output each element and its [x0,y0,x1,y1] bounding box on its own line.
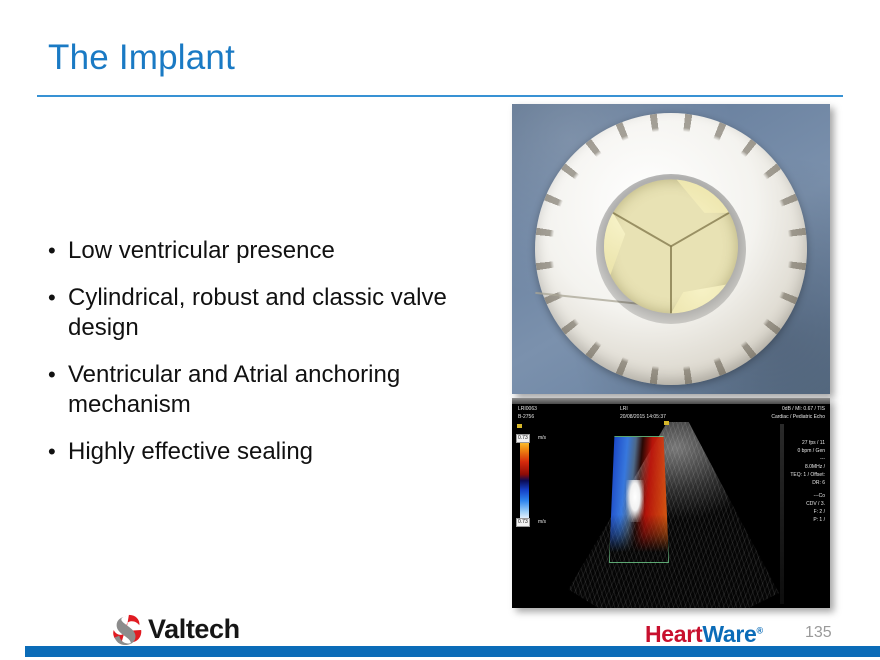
echo-patient-id: LRI0063 [518,406,537,413]
echo-dynamic-range: DR: 6 [790,480,825,487]
velocity-bottom-unit: m/s [538,519,546,526]
echo-patient-info: LRI0063 B-2756 [518,406,537,422]
heartware-logo: HeartWare® [645,621,763,648]
page-title: The Implant [48,38,235,78]
echo-doppler-params: ---Co CDV / 3. F: 2 / P: 1 / [806,493,825,525]
echo-ultrasound-sector [564,422,779,608]
echo-frame-rate: 27 fps / 11 [790,440,825,447]
velocity-bottom-value: 0.73 [516,518,530,527]
valtech-mark-icon [108,612,146,646]
echo-speckle-texture [564,422,779,608]
valtech-logo: Valtech [108,610,240,648]
echo-marker-icon [517,424,522,428]
echo-teq: TEQ: 1 / Offset: [790,472,825,479]
echocardiogram-color-doppler: 0.73 m/s 0.73 m/s LRI0063 B-2756 LRI 20/… [512,398,830,608]
velocity-top-value: 0.73 [516,434,530,443]
echo-institution: LRI [620,406,666,413]
echo-cdv-label: ---Co [806,493,825,500]
slide-canvas: The Implant • Low ventricular presence •… [0,0,880,660]
title-divider [37,95,843,97]
page-number: 135 [805,624,832,642]
list-item: • Highly effective sealing [42,437,492,467]
echo-persistence: P: 1 / [806,517,825,524]
echo-timestamp: 20/08/2015 14:05:37 [620,414,666,421]
echo-study-id: B-2756 [518,414,537,421]
echo-cdv: CDV / 3. [806,501,825,508]
velocity-color-bar [520,440,529,518]
echo-acquisition-params: 27 fps / 11 0 bpm / Gen --- 8.0MHz / TEQ… [790,440,825,488]
echo-institution-info: LRI 20/08/2015 14:05:37 [620,406,666,422]
echo-acoustic-info: 0dB / MI: 0.67 / TIS Cardiac / Pediatric… [771,406,825,422]
echo-separator: --- [790,456,825,463]
doppler-sector-box [609,436,669,563]
velocity-top-unit: m/s [538,435,546,442]
echo-preset: Cardiac / Pediatric Echo [771,414,825,421]
valve-leaflets [604,179,738,313]
heartware-ware-word: Ware [702,621,756,647]
echo-title-bar [512,398,830,404]
bullet-marker: • [42,437,68,467]
doppler-aliasing-jet [626,480,643,523]
echo-focus: F: 2 / [806,509,825,516]
echo-depth-scale [780,424,784,604]
bullet-marker: • [42,236,68,266]
heartware-heart-word: Heart [645,621,702,647]
list-item: • Ventricular and Atrial anchoring mecha… [42,360,492,420]
list-item: • Low ventricular presence [42,236,492,266]
commissure-1 [670,246,672,313]
bullet-text: Ventricular and Atrial anchoring mechani… [68,360,492,420]
bullet-marker: • [42,283,68,313]
bullet-text: Cylindrical, robust and classic valve de… [68,283,492,343]
valtech-wordmark: Valtech [148,614,240,645]
list-item: • Cylindrical, robust and classic valve … [42,283,492,343]
bullet-text: Highly effective sealing [68,437,492,467]
bullet-marker: • [42,360,68,390]
echo-heart-rate: 0 bpm / Gen [790,448,825,455]
echo-frequency: 8.0MHz / [790,464,825,471]
registered-mark: ® [757,625,763,635]
echo-acoustic-output: 0dB / MI: 0.67 / TIS [771,406,825,413]
prosthetic-valve-photo [512,104,830,394]
bullet-list: • Low ventricular presence • Cylindrical… [42,236,492,484]
bullet-text: Low ventricular presence [68,236,492,266]
footer-accent-bar [25,646,880,657]
